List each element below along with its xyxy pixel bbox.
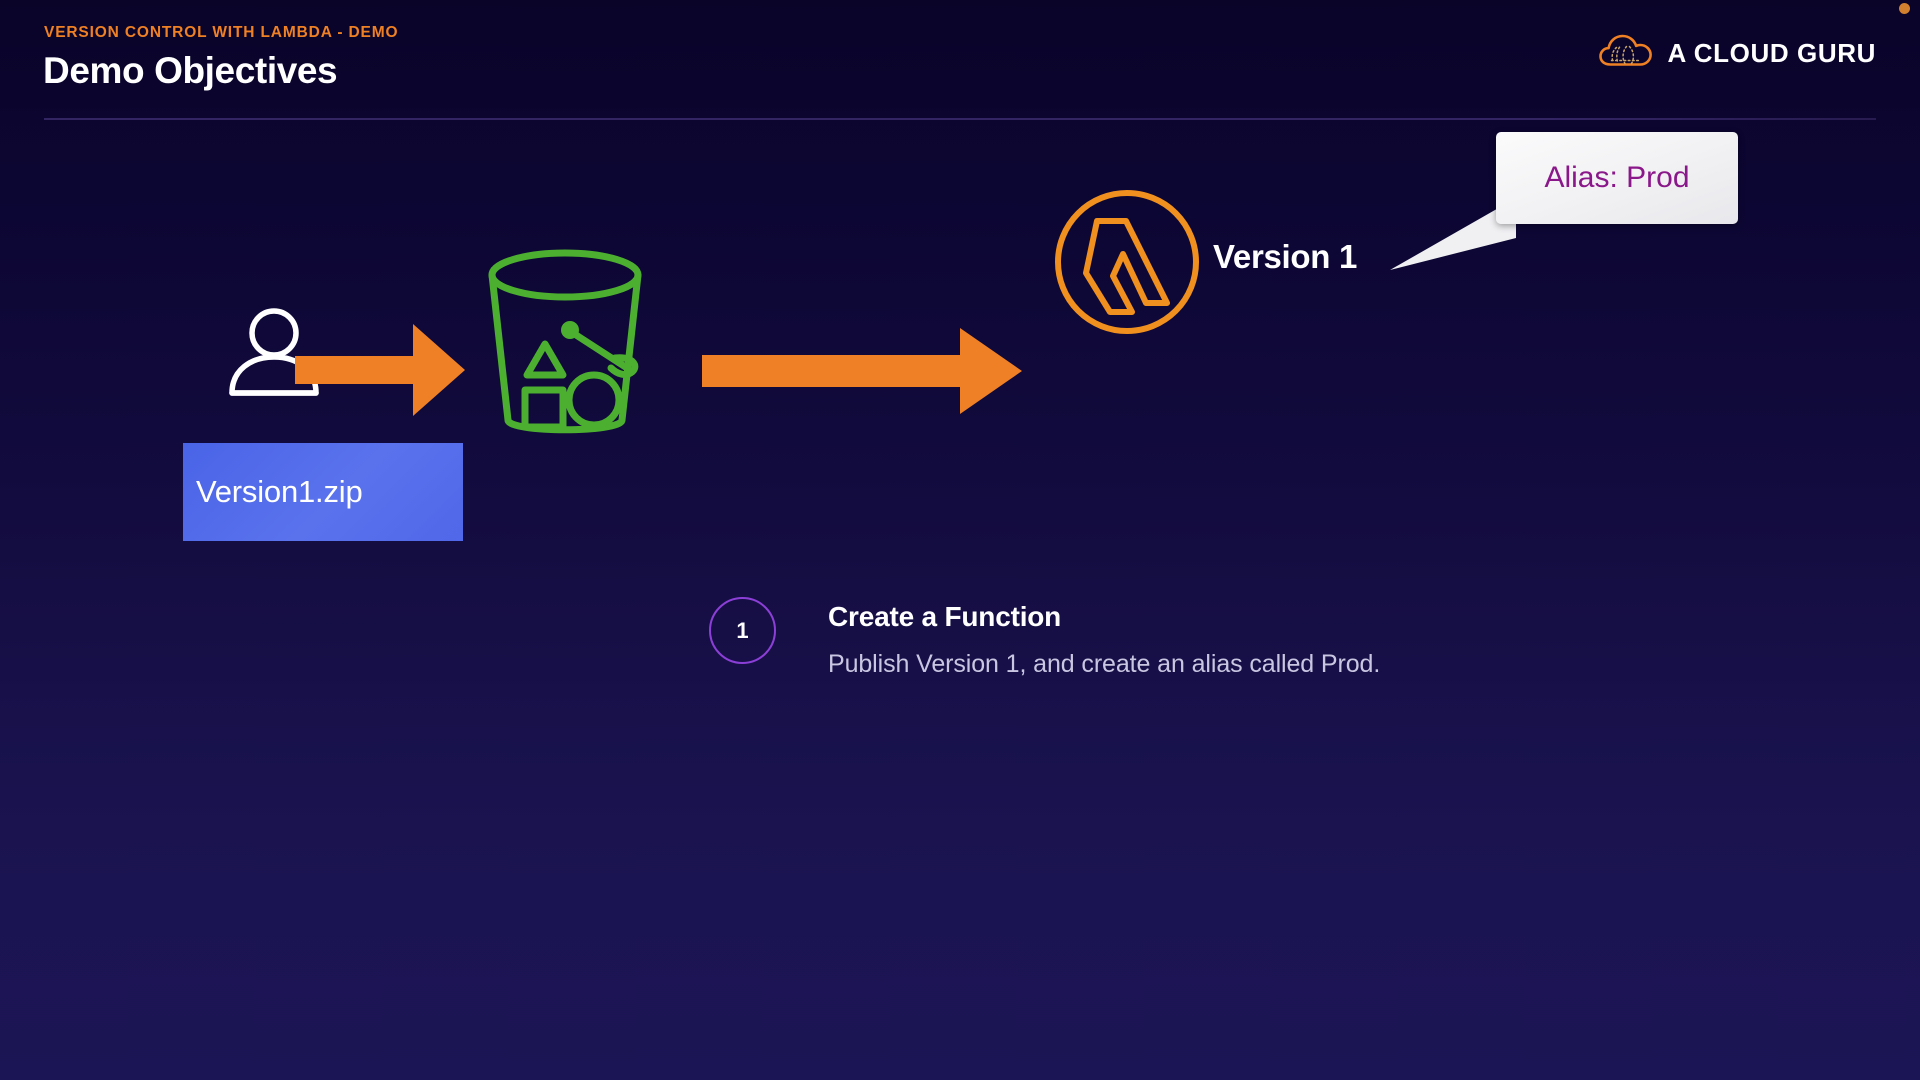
zip-file-box: Version1.zip bbox=[183, 443, 463, 541]
objective-step: 1 Create a Function Publish Version 1, a… bbox=[709, 597, 1380, 679]
page-title: Demo Objectives bbox=[43, 50, 337, 92]
cloud-icon bbox=[1598, 33, 1654, 74]
brand-logo: A CLOUD GURU bbox=[1598, 33, 1876, 74]
step-text-block: Create a Function Publish Version 1, and… bbox=[828, 597, 1380, 679]
version-label: Version 1 bbox=[1213, 238, 1357, 276]
step-description: Publish Version 1, and create an alias c… bbox=[828, 650, 1380, 679]
slide-kicker: VERSION CONTROL WITH LAMBDA - DEMO bbox=[44, 24, 398, 42]
zip-file-label: Version1.zip bbox=[183, 474, 362, 510]
brand-name: A CLOUD GURU bbox=[1668, 38, 1876, 69]
arrow-right-icon bbox=[295, 320, 467, 425]
header-divider bbox=[44, 118, 1876, 120]
step-number: 1 bbox=[736, 618, 748, 644]
slide-canvas: VERSION CONTROL WITH LAMBDA - DEMO Demo … bbox=[0, 0, 1920, 1080]
callout-text: Alias: Prod bbox=[1544, 161, 1689, 195]
callout-box: Alias: Prod bbox=[1496, 132, 1738, 224]
s3-bucket-icon bbox=[477, 248, 653, 453]
arrow-right-icon bbox=[702, 326, 1024, 421]
aws-lambda-icon bbox=[1053, 188, 1201, 341]
dot-icon bbox=[1899, 3, 1910, 14]
step-title: Create a Function bbox=[828, 601, 1380, 633]
step-number-badge: 1 bbox=[709, 597, 776, 664]
